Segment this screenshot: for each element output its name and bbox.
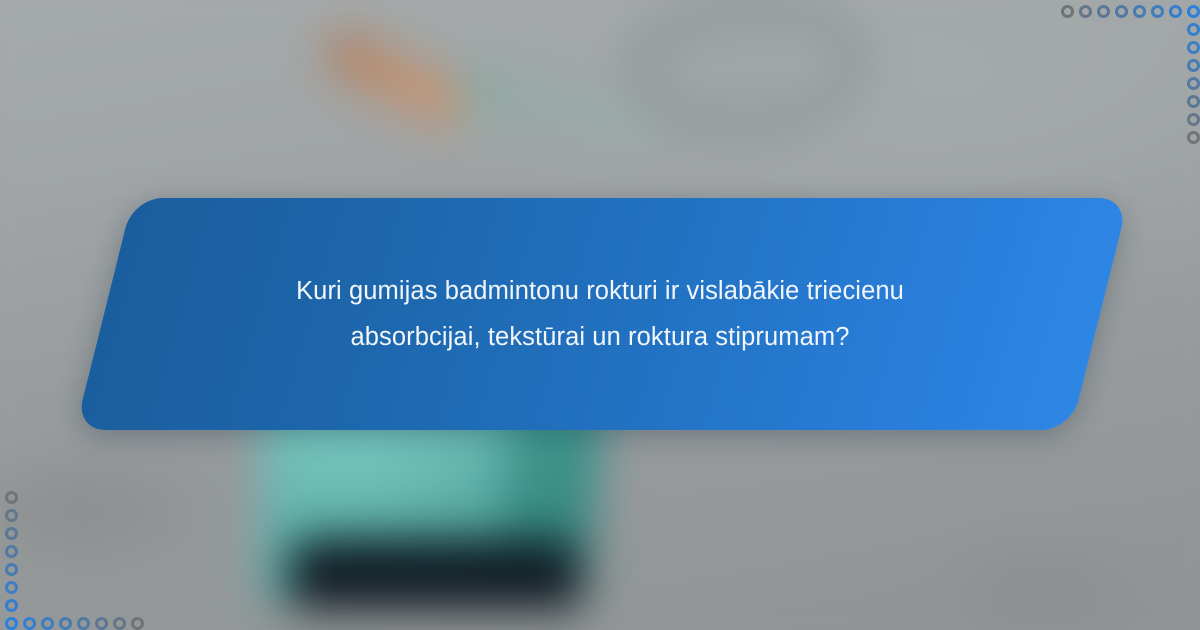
- quote-card-banner: Kuri gumijas badmintonu rokturi ir visla…: [0, 0, 1200, 630]
- background-wall-smudge-right: [910, 520, 1170, 630]
- player-shorts: [290, 538, 580, 608]
- background-floor-shadow: [0, 430, 260, 590]
- question-card-text-area: Kuri gumijas badmintonu rokturi ir visla…: [150, 198, 1050, 430]
- question-text: Kuri gumijas badmintonu rokturi ir visla…: [230, 268, 970, 361]
- question-card: Kuri gumijas badmintonu rokturi ir visla…: [0, 198, 1200, 430]
